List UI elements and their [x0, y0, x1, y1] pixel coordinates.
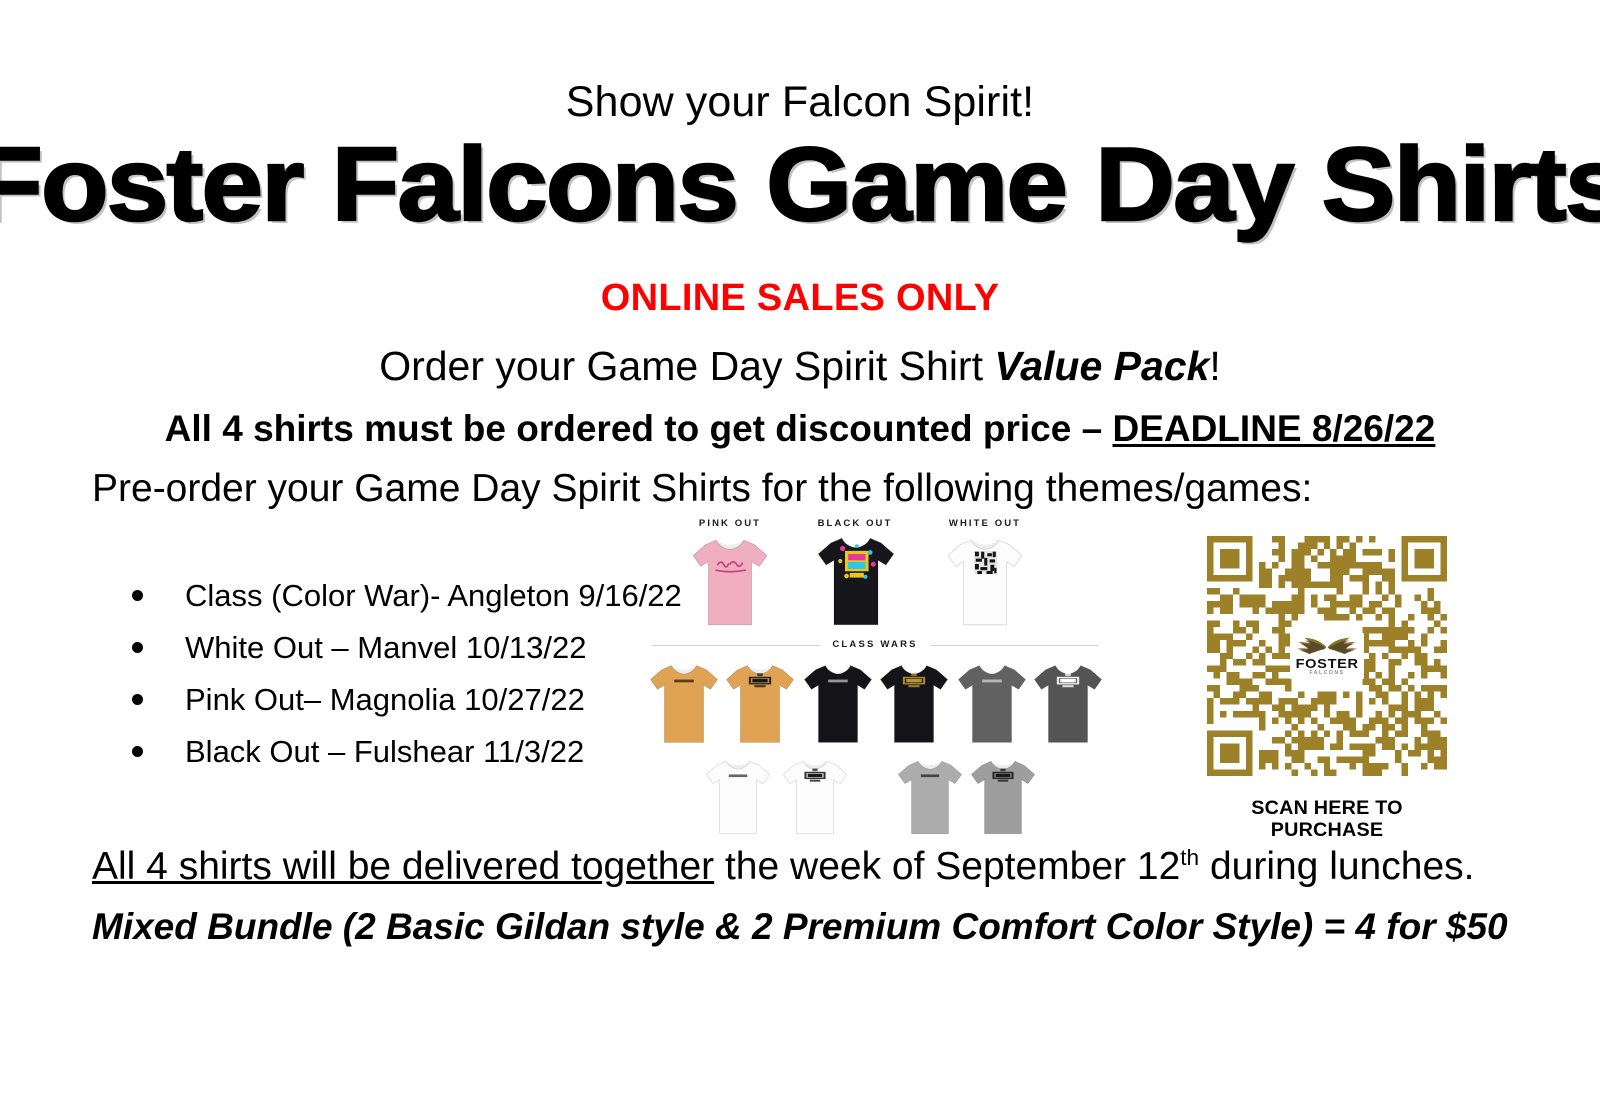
value-pack-emphasis: Value Pack — [994, 343, 1209, 389]
list-item: White Out – Manvel 10/13/22 — [132, 630, 692, 664]
charcoal-tee-front — [954, 660, 1030, 748]
white-tee-back — [779, 756, 851, 839]
delivery-superscript: th — [1180, 845, 1199, 870]
bundle-price-line: Mixed Bundle (2 Basic Gildan style & 2 P… — [92, 906, 1508, 948]
class-wars-divider: CLASS WARS — [652, 639, 1098, 651]
delivery-end: during lunches. — [1199, 845, 1474, 888]
foster-falcons-logo: FOSTER FALCONS — [1290, 633, 1364, 679]
tan-tee-back — [722, 660, 798, 748]
charcoal-tee-back — [1030, 660, 1106, 748]
preorder-line: Pre-order your Game Day Spirit Shirts fo… — [92, 467, 1312, 511]
falcon-wings-icon — [1296, 636, 1358, 656]
black-tee-front — [800, 660, 876, 748]
shirt-collage: PINK OUT BLACK OUT WHITE OUT — [640, 518, 1110, 838]
order-line-prefix: Order your Game Day Spirit Shirt — [379, 343, 994, 389]
online-sales-notice: ONLINE SALES ONLY — [0, 277, 1600, 320]
list-item: Black Out – Fulshear 11/3/22 — [132, 734, 692, 768]
order-value-pack-line: Order your Game Day Spirit Shirt Value P… — [0, 343, 1600, 390]
list-item-label: White Out – Manvel 10/13/22 — [185, 630, 587, 666]
page-title: Foster Falcons Game Day Shirts — [0, 132, 1600, 238]
list-item: Pink Out– Magnolia 10/27/22 — [132, 682, 692, 716]
tan-tee-front — [646, 660, 722, 748]
bullet-icon — [132, 642, 143, 653]
deadline-line: All 4 shirts must be ordered to get disc… — [0, 408, 1600, 450]
white-out-tee — [943, 534, 1027, 631]
list-item-label: Black Out – Fulshear 11/3/22 — [185, 734, 584, 770]
pink-out-tee — [688, 534, 772, 631]
list-item: Class (Color War)- Angleton 9/16/22 — [132, 578, 692, 612]
black-tee-back — [876, 660, 952, 748]
deadline-prefix: All 4 shirts must be ordered to get disc… — [165, 408, 1113, 449]
bullet-icon — [132, 746, 143, 757]
delivery-line: All 4 shirts will be delivered together … — [92, 845, 1474, 889]
class-wars-label: CLASS WARS — [652, 639, 1098, 650]
bullet-icon — [132, 694, 143, 705]
delivery-underlined: All 4 shirts will be delivered together — [92, 845, 714, 888]
list-item-label: Class (Color War)- Angleton 9/16/22 — [185, 578, 682, 614]
order-line-suffix: ! — [1209, 343, 1220, 389]
gray-tee-back — [967, 756, 1039, 839]
qr-code[interactable]: FOSTER FALCONS — [1207, 536, 1447, 776]
logo-falcons-text: FALCONS — [1309, 671, 1344, 676]
shirt-label-black-out: BLACK OUT — [795, 518, 915, 529]
deadline-emphasis: DEADLINE 8/26/22 — [1112, 408, 1435, 449]
logo-foster-text: FOSTER — [1295, 657, 1358, 670]
shirt-label-white-out: WHITE OUT — [925, 518, 1045, 529]
tagline: Show your Falcon Spirit! — [0, 78, 1600, 127]
gray-tee-front — [894, 756, 966, 839]
black-out-tee — [813, 532, 899, 631]
themes-list: Class (Color War)- Angleton 9/16/22 Whit… — [132, 578, 692, 786]
scan-here-caption: SCAN HERE TO PURCHASE — [1202, 798, 1452, 842]
delivery-middle: the week of September 12 — [714, 845, 1180, 888]
list-item-label: Pink Out– Magnolia 10/27/22 — [185, 682, 585, 718]
shirt-label-pink-out: PINK OUT — [670, 518, 790, 529]
bullet-icon — [132, 590, 143, 601]
white-tee-front — [702, 756, 774, 839]
